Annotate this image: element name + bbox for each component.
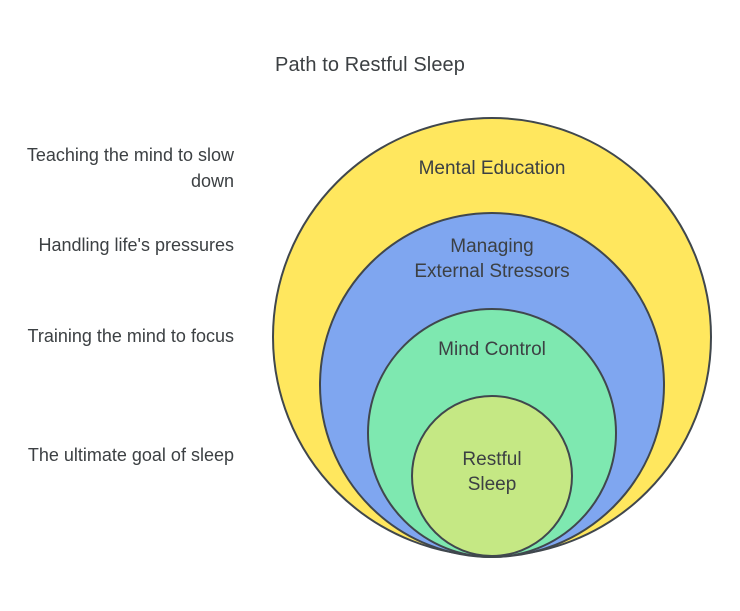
circle-label-managing-external-stressors: Managing External Stressors	[332, 234, 652, 284]
nested-circle-diagram: Path to Restful Sleep Teaching the mind …	[0, 0, 740, 611]
side-label-line-2: sleep	[191, 445, 234, 465]
side-label-line-1: Handling life's	[38, 235, 150, 255]
circle-label-restful-sleep: Restful Sleep	[332, 447, 652, 497]
side-label-line-2: pressures	[155, 235, 234, 255]
circle-label-line-1: Mind Control	[332, 337, 652, 362]
side-label-managing-external-stressors: Handling life's pressures	[14, 232, 234, 258]
circle-label-mind-control: Mind Control	[332, 337, 652, 362]
circle-label-line-1: Managing	[332, 234, 652, 259]
circle-label-line-1: Mental Education	[332, 156, 652, 181]
side-label-mental-education: Teaching the mind to slow down	[14, 142, 234, 194]
side-label-line-2: focus	[191, 326, 234, 346]
circle-label-mental-education: Mental Education	[332, 156, 652, 181]
circle-label-line-1: Restful	[332, 447, 652, 472]
side-label-line-1: Teaching the mind to	[27, 145, 193, 165]
side-label-mind-control: Training the mind to focus	[14, 323, 234, 349]
side-label-line-1: The ultimate goal of	[28, 445, 186, 465]
circle-label-line-2: External Stressors	[332, 259, 652, 284]
side-label-line-1: Training the mind to	[28, 326, 186, 346]
page-title: Path to Restful Sleep	[0, 52, 740, 78]
side-label-line-2: slow down	[191, 145, 234, 191]
circle-label-line-2: Sleep	[332, 472, 652, 497]
side-label-restful-sleep: The ultimate goal of sleep	[14, 442, 234, 468]
